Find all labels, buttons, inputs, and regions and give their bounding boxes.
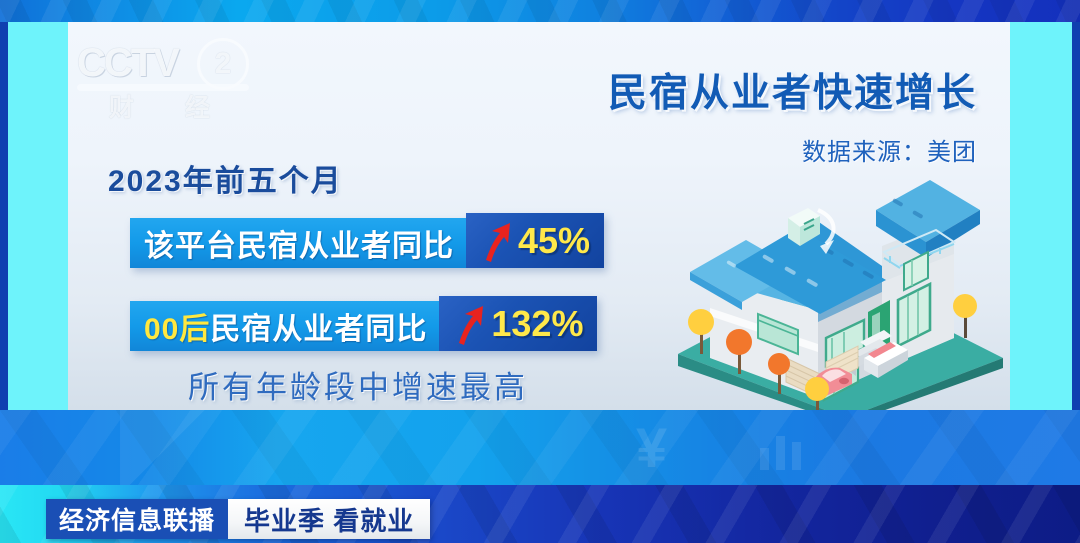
homestay-house-illustration — [668, 162, 1010, 410]
decor-bar — [792, 442, 801, 470]
up-arrow-icon — [474, 218, 516, 264]
topic-name: 毕业季 看就业 — [228, 499, 430, 539]
left-cyan-rail — [8, 22, 68, 410]
program-ticker: 经济信息联播 毕业季 看就业 — [46, 499, 430, 539]
currency-symbol-decor: ¥ — [636, 420, 667, 476]
cctv-logo-watermark: CCTV 2 财 经 — [73, 36, 268, 116]
main-content-panel: CCTV 2 财 经 民宿从业者快速增长 数据来源：美团 2023年前五个月 该… — [68, 22, 1010, 410]
right-cyan-rail — [1010, 22, 1072, 410]
cctv-logo-text: CCTV — [77, 41, 178, 86]
stat-value: 45% — [518, 220, 590, 262]
decor-bar — [776, 436, 785, 470]
stat-label-text: 该平台民宿从业者同比 — [144, 221, 454, 265]
stat-row: 该平台民宿从业者同比 45% — [130, 218, 604, 268]
decor-bar — [760, 448, 769, 470]
stat-caption: 所有年龄段中增速最高 — [188, 362, 528, 407]
bar-chart-decor — [760, 436, 801, 470]
page-title: 民宿从业者快速增长 — [608, 62, 977, 118]
bottom-graphic-band: ¥ — [0, 410, 1080, 485]
top-decorative-bar — [0, 0, 1080, 22]
stat-row: 00后 民宿从业者同比 132% — [130, 301, 597, 351]
period-label: 2023年前五个月 — [108, 156, 343, 200]
stat-label: 该平台民宿从业者同比 — [130, 218, 466, 268]
program-name: 经济信息联播 — [46, 499, 228, 539]
top-bar-pattern — [0, 0, 1080, 22]
band-pattern — [0, 410, 1080, 485]
cctv-logo-subtitle: 财 经 — [109, 88, 232, 124]
stat-label-highlight: 00后 — [144, 304, 210, 348]
cctv-channel-number: 2 — [197, 38, 249, 90]
up-arrow-icon — [447, 301, 489, 347]
stat-value-panel: 45% — [466, 213, 604, 268]
stat-label: 00后 民宿从业者同比 — [130, 301, 439, 351]
stat-label-text: 民宿从业者同比 — [210, 304, 427, 348]
broadcast-screen: CCTV 2 财 经 民宿从业者快速增长 数据来源：美团 2023年前五个月 该… — [0, 0, 1080, 543]
stat-value: 132% — [491, 303, 583, 345]
stat-value-panel: 132% — [439, 296, 597, 351]
